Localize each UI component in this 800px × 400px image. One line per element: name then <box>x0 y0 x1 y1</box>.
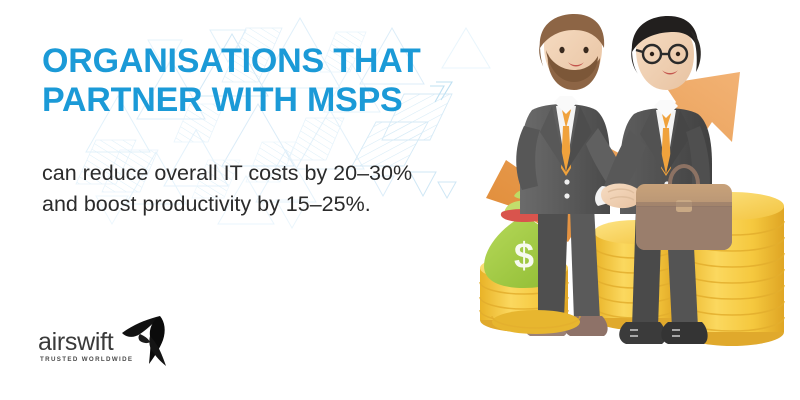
subtitle-text: can reduce overall IT costs by 20–30% an… <box>42 158 434 219</box>
swift-bird-icon <box>120 314 180 370</box>
airswift-logo[interactable]: airswift TRUSTED WORLDWIDE <box>38 318 188 378</box>
text-column: ORGANISATIONS THAT PARTNER WITH MSPS can… <box>42 42 442 121</box>
business-handshake-growth-illustration: $ <box>440 10 800 400</box>
logo-wordmark: airswift <box>38 328 113 357</box>
svg-text:$: $ <box>514 235 534 276</box>
poster-canvas: ORGANISATIONS THAT PARTNER WITH MSPS can… <box>0 0 800 400</box>
coin-stack-left-front <box>492 310 580 334</box>
page-title: ORGANISATIONS THAT PARTNER WITH MSPS <box>42 42 442 121</box>
